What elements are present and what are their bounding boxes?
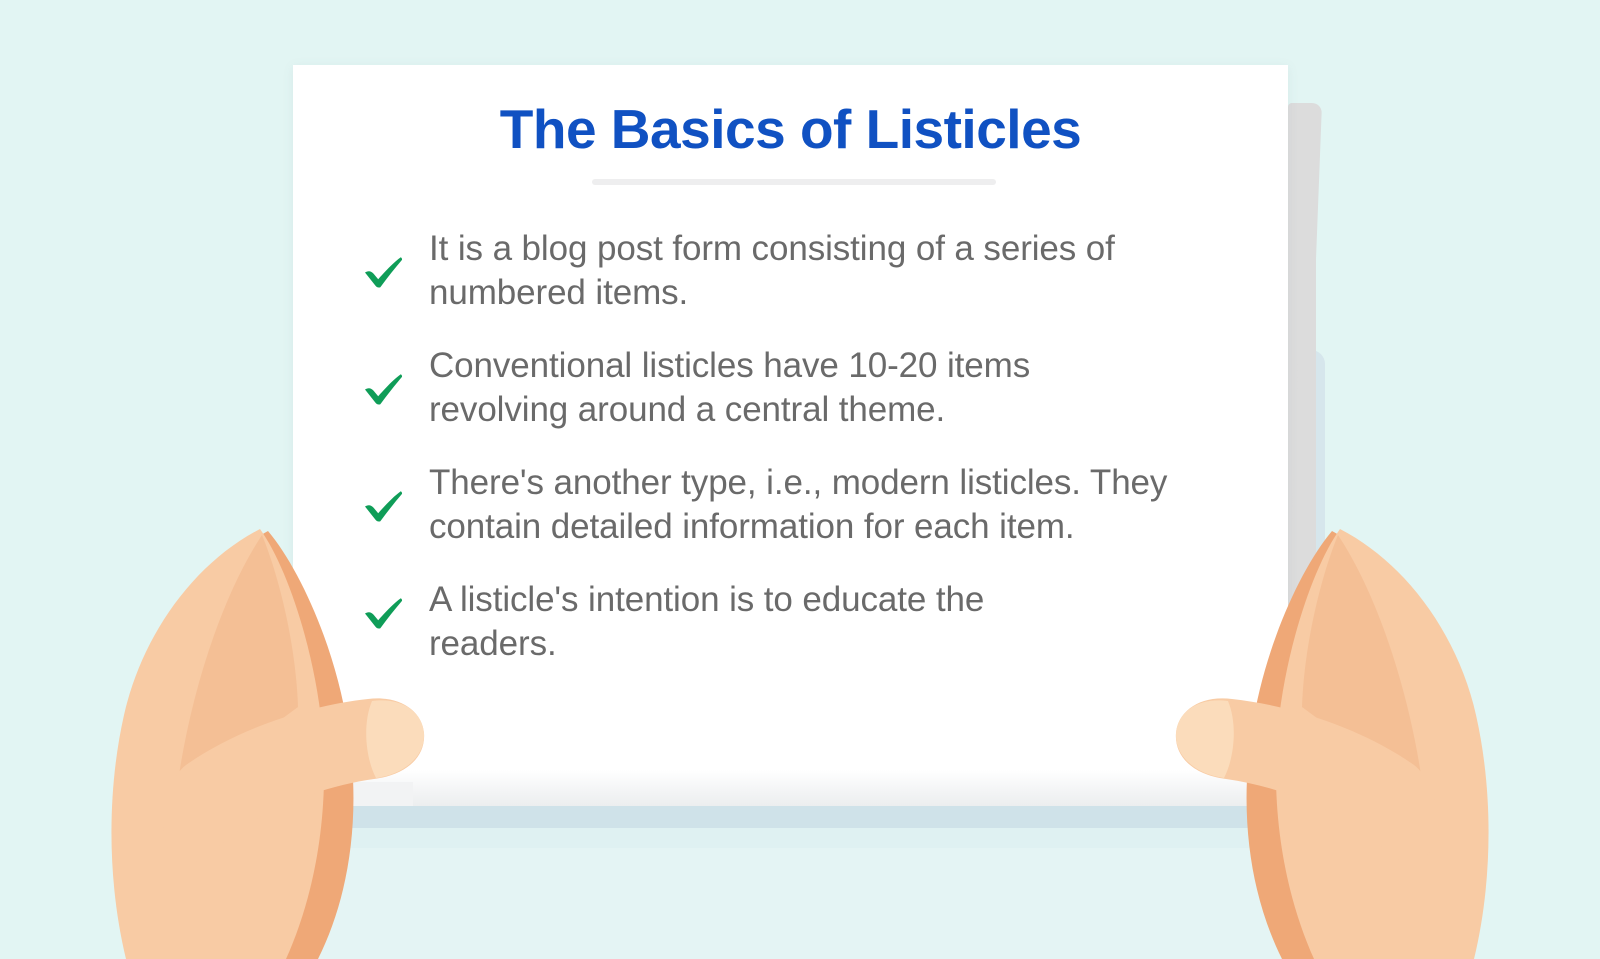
- check-icon: [355, 344, 411, 410]
- list-item: It is a blog post form consisting of a s…: [355, 227, 1285, 316]
- title-divider: [592, 179, 996, 185]
- check-icon: [355, 461, 411, 527]
- check-icon: [355, 227, 411, 293]
- list-item: Conventional listicles have 10-20 items …: [355, 344, 1285, 433]
- right-hand-illustration: [1080, 529, 1510, 959]
- list-item-text: It is a blog post form consisting of a s…: [411, 227, 1219, 316]
- page-title: The Basics of Listicles: [293, 99, 1288, 160]
- left-hand-illustration: [90, 529, 520, 959]
- infographic-scene: The Basics of Listicles It is a blog pos…: [0, 0, 1600, 959]
- list-item-text: Conventional listicles have 10-20 items …: [411, 344, 1159, 433]
